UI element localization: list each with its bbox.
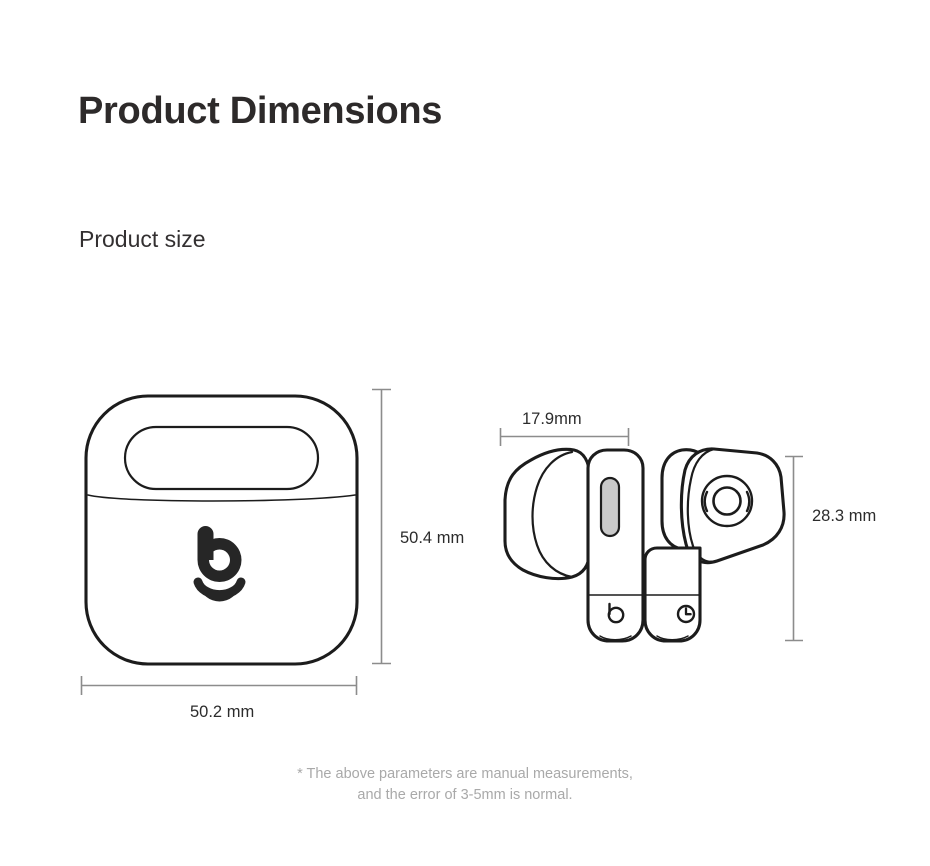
footnote: * The above parameters are manual measur… xyxy=(0,764,930,806)
dimension-label-earbud-height: 28.3 mm xyxy=(812,508,876,525)
dimension-label-case-width: 50.2 mm xyxy=(190,704,254,721)
earbud-side-view xyxy=(505,449,643,641)
dimension-label-earbud-width: 17.9mm xyxy=(522,411,582,428)
dimension-diagram: .ol { fill:none; stroke:#1c1c1c; stroke-… xyxy=(0,0,930,866)
footnote-line-2: and the error of 3-5mm is normal. xyxy=(0,785,930,806)
dimension-line-case-width xyxy=(81,676,357,695)
diagram-svg: .ol { fill:none; stroke:#1c1c1c; stroke-… xyxy=(0,0,930,866)
charging-case-view xyxy=(86,396,357,664)
dimension-line-earbud-height xyxy=(785,456,803,641)
dimension-line-case-height xyxy=(372,389,391,664)
earbud-driver-grille xyxy=(702,476,752,526)
earbud-front-view xyxy=(645,449,784,641)
dimension-line-earbud-width xyxy=(500,428,629,446)
case-lid-slot xyxy=(125,427,318,489)
dimension-label-case-height: 50.4 mm xyxy=(400,530,464,547)
product-dimensions-page: Product Dimensions Product size .ol { fi… xyxy=(0,0,930,866)
footnote-line-1: * The above parameters are manual measur… xyxy=(0,764,930,785)
earbud-sensor-pill xyxy=(601,478,619,536)
